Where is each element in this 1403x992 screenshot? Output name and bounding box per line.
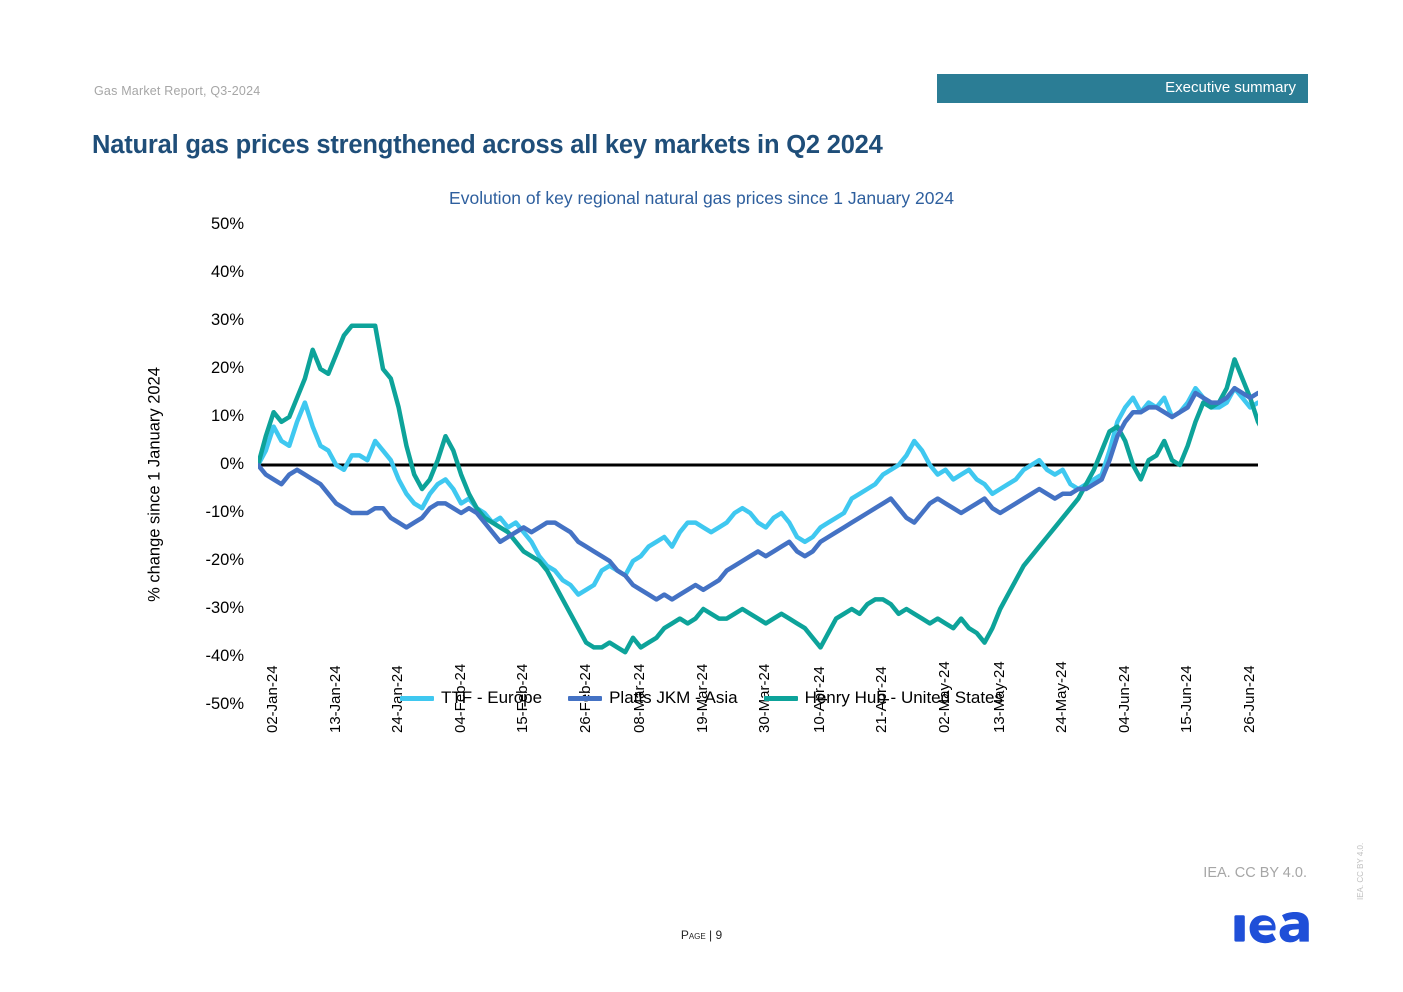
copyright-note: IEA. CC BY 4.0.	[1203, 865, 1307, 881]
section-banner: Executive summary	[937, 74, 1308, 103]
chart-legend: TTF - EuropePlatts JKM - AsiaHenry Hub -…	[0, 688, 1403, 708]
y-axis-tick: 0%	[180, 455, 244, 474]
series-line-henry-hub-united-states	[258, 326, 1258, 652]
y-axis-tick: -20%	[180, 551, 244, 570]
legend-item[interactable]: TTF - Europe	[400, 688, 542, 708]
chart-container: % change since 1 January 2024 50%40%30%2…	[0, 225, 1403, 845]
legend-label: TTF - Europe	[441, 688, 542, 708]
legend-item[interactable]: Henry Hub - United States	[764, 688, 1003, 708]
legend-swatch-icon	[400, 696, 434, 701]
y-axis-tick: 40%	[180, 263, 244, 282]
y-axis-title: % change since 1 January 2024	[146, 325, 165, 645]
y-axis-tick: 10%	[180, 407, 244, 426]
legend-swatch-icon	[568, 696, 602, 701]
report-label: Gas Market Report, Q3-2024	[94, 84, 260, 98]
legend-label: Platts JKM - Asia	[609, 688, 737, 708]
y-axis-tick: -30%	[180, 599, 244, 618]
slide-page: Gas Market Report, Q3-2024 Executive sum…	[0, 0, 1403, 992]
y-axis-tick: 20%	[180, 359, 244, 378]
legend-swatch-icon	[764, 696, 798, 701]
legend-label: Henry Hub - United States	[805, 688, 1003, 708]
section-banner-label: Executive summary	[1165, 79, 1296, 96]
page-title: Natural gas prices strengthened across a…	[92, 131, 883, 160]
plot-area	[258, 225, 1258, 705]
y-axis-tick: -40%	[180, 647, 244, 666]
y-axis-tick: 50%	[180, 215, 244, 234]
series-line-ttf-europe	[258, 388, 1258, 594]
y-axis-tick: -10%	[180, 503, 244, 522]
copyright-side-note: IEA. CC BY 4.0.	[1356, 843, 1365, 900]
y-axis-tick: 30%	[180, 311, 244, 330]
iea-logo	[1232, 908, 1312, 948]
legend-item[interactable]: Platts JKM - Asia	[568, 688, 737, 708]
line-chart-svg	[258, 225, 1258, 705]
page-number: Page | 9	[0, 928, 1403, 942]
chart-subtitle: Evolution of key regional natural gas pr…	[0, 188, 1403, 209]
